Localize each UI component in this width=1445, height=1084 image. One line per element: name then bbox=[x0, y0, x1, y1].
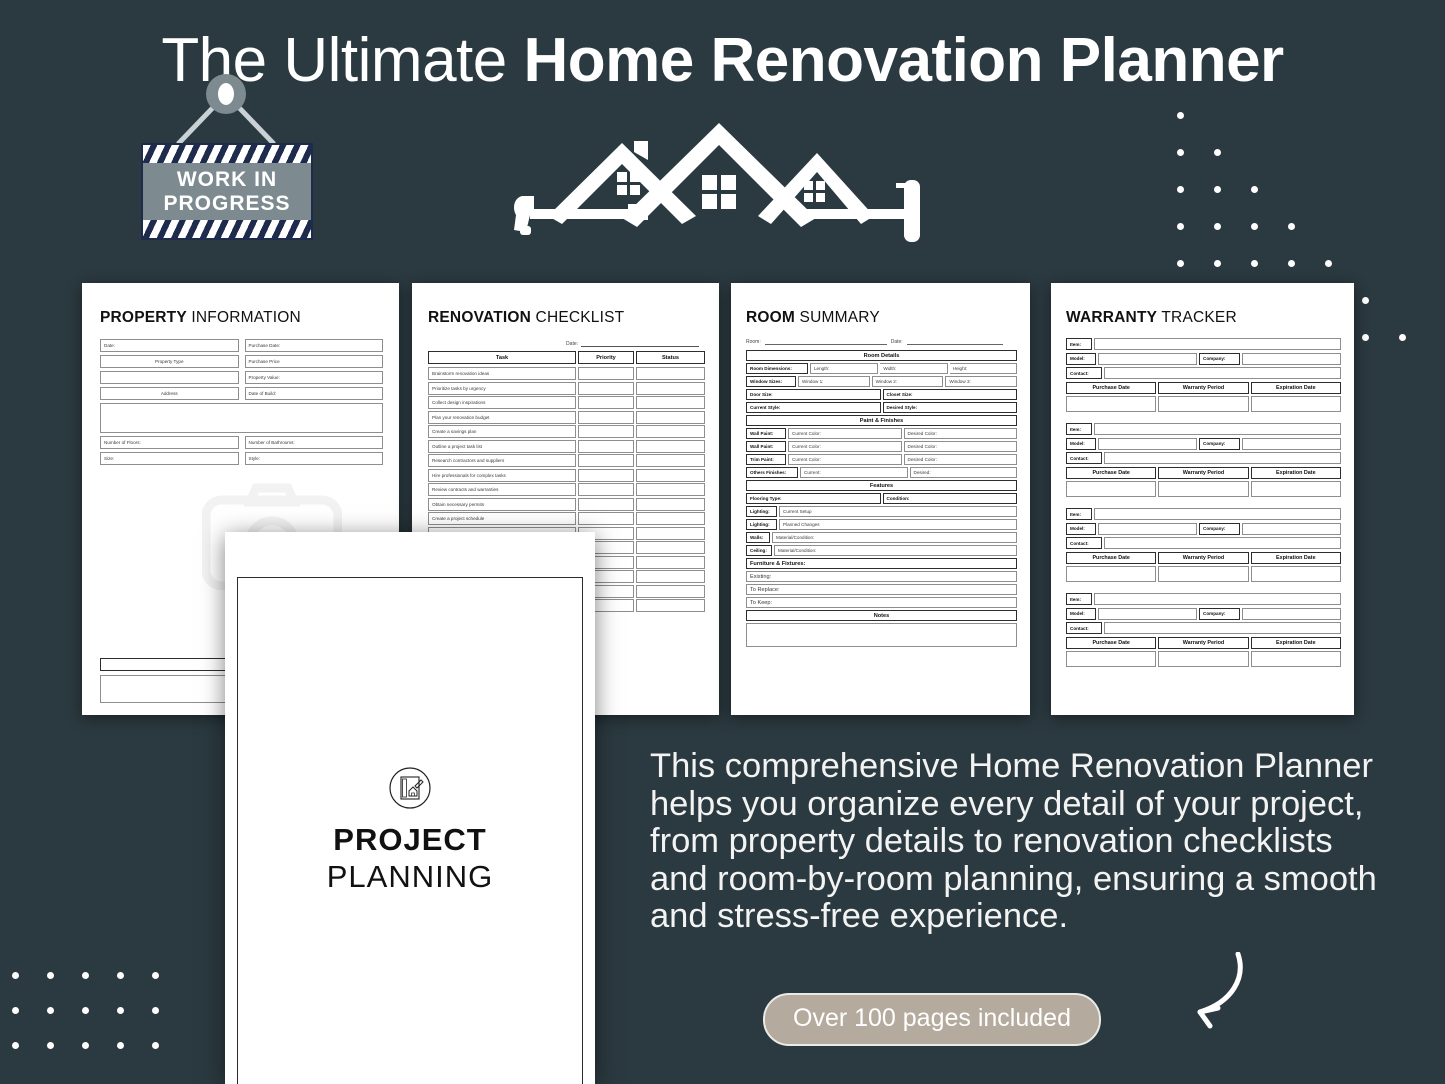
warranty-column-header: Expiration Date bbox=[1251, 467, 1341, 479]
decorative-dot bbox=[152, 1042, 159, 1049]
label-model: Model: bbox=[1066, 353, 1096, 365]
sheet-title-bold: WARRANTY bbox=[1066, 309, 1157, 326]
decorative-dot bbox=[1362, 297, 1369, 304]
warranty-contact-row: Contact: bbox=[1066, 622, 1341, 634]
warranty-column-header: Purchase Date bbox=[1066, 552, 1156, 564]
warranty-contact-row: Contact: bbox=[1066, 452, 1341, 464]
decorative-dot bbox=[1177, 186, 1184, 193]
decorative-dot bbox=[47, 1042, 54, 1049]
section-room-details: Room Details bbox=[746, 350, 1017, 361]
decorative-dot bbox=[1214, 223, 1221, 230]
priority-cell[interactable] bbox=[578, 498, 634, 511]
section-notes: Notes bbox=[746, 610, 1017, 621]
field-purchase-date[interactable]: Purchase Date: bbox=[245, 339, 384, 352]
field-height[interactable]: Height: bbox=[950, 363, 1017, 374]
priority-cell[interactable] bbox=[578, 483, 634, 496]
priority-cell[interactable] bbox=[578, 425, 634, 438]
field-model[interactable] bbox=[1098, 438, 1197, 450]
room-label: Room: bbox=[746, 339, 761, 345]
warranty-model-row: Model:Company: bbox=[1066, 523, 1341, 535]
warranty-cell[interactable] bbox=[1066, 651, 1156, 667]
warranty-block: Item:Model:Company:Contact:Purchase Date… bbox=[1066, 423, 1341, 497]
warranty-contact-row: Contact: bbox=[1066, 367, 1341, 379]
status-cell[interactable] bbox=[636, 527, 705, 540]
field-window-2[interactable]: Window 2: bbox=[872, 376, 944, 387]
status-cell[interactable] bbox=[636, 440, 705, 453]
field-contact[interactable] bbox=[1104, 622, 1341, 634]
section-features: Features bbox=[746, 480, 1017, 491]
warranty-column-header: Warranty Period bbox=[1158, 552, 1248, 564]
label-model: Model: bbox=[1066, 608, 1096, 620]
decorative-dot bbox=[47, 972, 54, 979]
label-contact: Contact: bbox=[1066, 622, 1102, 634]
field-property-value[interactable]: Property Value: bbox=[245, 371, 384, 384]
warranty-cell[interactable] bbox=[1158, 566, 1248, 582]
decorative-dot bbox=[117, 1007, 124, 1014]
page-title-bold: Home Renovation Planner bbox=[523, 26, 1283, 95]
field-window-1[interactable]: Window 1: bbox=[798, 376, 870, 387]
label-item: Item: bbox=[1066, 338, 1092, 350]
priority-cell[interactable] bbox=[578, 396, 634, 409]
warranty-table-body bbox=[1066, 396, 1341, 412]
decorative-dot bbox=[12, 1042, 19, 1049]
decorative-dot bbox=[1362, 334, 1369, 341]
decorative-dot bbox=[1251, 186, 1258, 193]
field-contact[interactable] bbox=[1104, 367, 1341, 379]
warranty-item-row: Item: bbox=[1066, 423, 1341, 435]
label-wall-paint-2: Wall Paint: bbox=[746, 441, 786, 452]
warranty-column-header: Purchase Date bbox=[1066, 382, 1156, 394]
field-door-size[interactable]: Door Size: bbox=[746, 389, 881, 400]
date-line: Date: bbox=[428, 339, 705, 347]
sign-line-2: PROGRESS bbox=[163, 192, 290, 216]
status-cell[interactable] bbox=[636, 411, 705, 424]
table-row: Create a savings plan bbox=[428, 425, 705, 438]
decorative-dot bbox=[1288, 260, 1295, 267]
table-row: Create a project schedule bbox=[428, 512, 705, 525]
field-current-style[interactable]: Current Style: bbox=[746, 402, 881, 413]
warranty-cell[interactable] bbox=[1066, 566, 1156, 582]
warranty-blocks: Item:Model:Company:Contact:Purchase Date… bbox=[1066, 338, 1341, 667]
warranty-table-header: Purchase DateWarranty PeriodExpiration D… bbox=[1066, 552, 1341, 564]
label-wall-paint-1: Wall Paint: bbox=[746, 428, 786, 439]
label-others-finishes: Others Finishes: bbox=[746, 467, 798, 478]
decorative-dot bbox=[117, 972, 124, 979]
decorative-dot bbox=[1214, 149, 1221, 156]
sheet-title: RENOVATION CHECKLIST bbox=[428, 309, 705, 327]
sheet-title-normal: SUMMARY bbox=[795, 309, 880, 326]
table-row: Collect design inspirations bbox=[428, 396, 705, 409]
warranty-block: Item:Model:Company:Contact:Purchase Date… bbox=[1066, 508, 1341, 582]
field-company[interactable] bbox=[1242, 523, 1341, 535]
warranty-table-body bbox=[1066, 481, 1341, 497]
warranty-column-header: Purchase Date bbox=[1066, 467, 1156, 479]
field-model[interactable] bbox=[1098, 353, 1197, 365]
label-model: Model: bbox=[1066, 523, 1096, 535]
field-company[interactable] bbox=[1242, 353, 1341, 365]
field-wall-paint-1-desired[interactable]: Desired Color: bbox=[904, 428, 1018, 439]
cover-title-bold: PROJECT bbox=[333, 822, 486, 858]
task-cell[interactable]: Hire professionals for complex tasks bbox=[428, 469, 576, 482]
column-task: Task bbox=[428, 351, 576, 364]
field-contact[interactable] bbox=[1104, 537, 1341, 549]
task-cell[interactable]: Brainstorm renovation ideas bbox=[428, 367, 576, 380]
date-label: Date: bbox=[891, 339, 903, 345]
page-room-summary: ROOM SUMMARY Room: Date: Room Details Ro… bbox=[731, 283, 1030, 715]
warranty-table-header: Purchase DateWarranty PeriodExpiration D… bbox=[1066, 467, 1341, 479]
date-rule[interactable] bbox=[907, 337, 1003, 345]
status-cell[interactable] bbox=[636, 396, 705, 409]
field-property-type[interactable]: Property Type bbox=[100, 355, 239, 368]
sign-board: WORK IN PROGRESS bbox=[141, 143, 313, 240]
decorative-dot bbox=[152, 972, 159, 979]
decorative-dot bbox=[1177, 260, 1184, 267]
field-style[interactable]: Style: bbox=[245, 452, 384, 465]
column-priority: Priority bbox=[578, 351, 634, 364]
task-cell[interactable]: Collect design inspirations bbox=[428, 396, 576, 409]
status-cell[interactable] bbox=[636, 570, 705, 583]
field-window-3[interactable]: Window 3: bbox=[945, 376, 1017, 387]
decorative-dot bbox=[117, 1042, 124, 1049]
sheet-title-normal: TRACKER bbox=[1157, 309, 1237, 326]
sheet-title: PROPERTY INFORMATION bbox=[100, 309, 383, 327]
label-company: Company: bbox=[1199, 353, 1240, 365]
decorative-dot bbox=[1214, 186, 1221, 193]
warranty-block: Item:Model:Company:Contact:Purchase Date… bbox=[1066, 593, 1341, 667]
date-rule[interactable] bbox=[581, 339, 699, 347]
field-item[interactable] bbox=[1094, 338, 1341, 350]
warranty-column-header: Expiration Date bbox=[1251, 382, 1341, 394]
table-row: Plan your renovation budget bbox=[428, 411, 705, 424]
field-closet-size[interactable]: Closet Size: bbox=[883, 389, 1018, 400]
sign-hanger-icon bbox=[133, 72, 319, 144]
task-cell[interactable]: Review contracts and warranties bbox=[428, 483, 576, 496]
field-lighting-current-setup[interactable]: Current Setup bbox=[779, 506, 1017, 517]
label-walls: Walls: bbox=[746, 532, 770, 543]
sign-stripe-bottom bbox=[143, 220, 311, 238]
decorative-dot bbox=[82, 1007, 89, 1014]
dot-pattern-bottom-left bbox=[12, 972, 187, 1062]
decorative-dot bbox=[12, 1007, 19, 1014]
field-lighting-planned-changes[interactable]: Planned Changes bbox=[779, 519, 1017, 530]
field-model[interactable] bbox=[1098, 523, 1197, 535]
field-contact[interactable] bbox=[1104, 452, 1341, 464]
page-warranty-tracker: WARRANTY TRACKER Item:Model:Company:Cont… bbox=[1051, 283, 1354, 715]
field-desired-style[interactable]: Desired Style: bbox=[883, 402, 1018, 413]
priority-cell[interactable] bbox=[578, 367, 634, 380]
field-company[interactable] bbox=[1242, 608, 1341, 620]
label-window-sizes: Window Sizes: bbox=[746, 376, 796, 387]
label-item: Item: bbox=[1066, 508, 1092, 520]
status-cell[interactable] bbox=[636, 512, 705, 525]
status-cell[interactable] bbox=[636, 556, 705, 569]
field-purchase-price[interactable]: Purchase Price bbox=[245, 355, 384, 368]
field-company[interactable] bbox=[1242, 438, 1341, 450]
table-row: Obtain necessary permits bbox=[428, 498, 705, 511]
field-address[interactable]: Address bbox=[100, 387, 239, 400]
field-wall-paint-1-current[interactable]: Current Color: bbox=[788, 428, 902, 439]
cover-title-normal: PLANNING bbox=[327, 859, 493, 895]
sheet-title-bold: ROOM bbox=[746, 309, 795, 326]
section-paint-finishes: Paint & Finishes bbox=[746, 415, 1017, 426]
task-cell[interactable]: Prioritize tasks by urgency bbox=[428, 382, 576, 395]
decorative-dot bbox=[47, 1007, 54, 1014]
warranty-model-row: Model:Company: bbox=[1066, 608, 1341, 620]
label-lighting-1: Lighting: bbox=[746, 506, 777, 517]
status-cell[interactable] bbox=[636, 469, 705, 482]
warranty-table-header: Purchase DateWarranty PeriodExpiration D… bbox=[1066, 637, 1341, 649]
priority-cell[interactable] bbox=[578, 454, 634, 467]
page-project-planning-cover: PROJECT PLANNING bbox=[225, 532, 595, 1084]
field-item[interactable] bbox=[1094, 593, 1341, 605]
curved-arrow-icon bbox=[1160, 952, 1252, 1036]
task-cell[interactable]: Plan your renovation budget bbox=[428, 411, 576, 424]
field-date[interactable]: Date: bbox=[100, 339, 239, 352]
decorative-dot bbox=[1288, 223, 1295, 230]
field-notes-area[interactable] bbox=[746, 623, 1017, 647]
priority-cell[interactable] bbox=[578, 411, 634, 424]
label-contact: Contact: bbox=[1066, 452, 1102, 464]
status-cell[interactable] bbox=[636, 483, 705, 496]
decorative-dot bbox=[12, 972, 19, 979]
label-room-dimensions: Room Dimensions: bbox=[746, 363, 808, 374]
warranty-cell[interactable] bbox=[1066, 481, 1156, 497]
pages-included-badge: Over 100 pages included bbox=[763, 993, 1101, 1046]
priority-cell[interactable] bbox=[578, 512, 634, 525]
table-row: Research contractors and suppliers bbox=[428, 454, 705, 467]
decorative-dot bbox=[1251, 223, 1258, 230]
warranty-table-body bbox=[1066, 651, 1341, 667]
label-item: Item: bbox=[1066, 593, 1092, 605]
decorative-dot bbox=[1177, 112, 1184, 119]
label-ceiling: Ceiling: bbox=[746, 545, 772, 556]
task-cell[interactable]: Obtain necessary permits bbox=[428, 498, 576, 511]
table-row: Hire professionals for complex tasks bbox=[428, 469, 705, 482]
warranty-item-row: Item: bbox=[1066, 338, 1341, 350]
status-cell[interactable] bbox=[636, 382, 705, 395]
label-model: Model: bbox=[1066, 438, 1096, 450]
decorative-dot bbox=[82, 1042, 89, 1049]
warranty-column-header: Expiration Date bbox=[1251, 637, 1341, 649]
field-existing[interactable]: Existing: bbox=[746, 571, 1017, 582]
warranty-cell[interactable] bbox=[1158, 396, 1248, 412]
warranty-cell[interactable] bbox=[1158, 481, 1248, 497]
field-blank[interactable] bbox=[100, 371, 239, 384]
warranty-cell[interactable] bbox=[1251, 481, 1341, 497]
field-trim-paint-current[interactable]: Current Color: bbox=[788, 454, 902, 465]
field-flooring-type[interactable]: Flooring Type: bbox=[746, 493, 881, 504]
field-width[interactable]: Width: bbox=[880, 363, 947, 374]
house-roofs-hammer-paint-roller-icon bbox=[500, 108, 950, 258]
warranty-column-header: Warranty Period bbox=[1158, 467, 1248, 479]
sheet-title-normal: INFORMATION bbox=[187, 309, 301, 326]
label-lighting-2: Lighting: bbox=[746, 519, 777, 530]
sheet-title-bold: PROPERTY bbox=[100, 309, 187, 326]
decorative-dot bbox=[1214, 260, 1221, 267]
status-cell[interactable] bbox=[636, 454, 705, 467]
label-item: Item: bbox=[1066, 423, 1092, 435]
label-company: Company: bbox=[1199, 608, 1240, 620]
work-in-progress-sign: WORK IN PROGRESS bbox=[133, 72, 319, 262]
table-row: Prioritize tasks by urgency bbox=[428, 382, 705, 395]
property-form: Date:Purchase Date: Property TypePurchas… bbox=[100, 339, 383, 465]
warranty-cell[interactable] bbox=[1251, 566, 1341, 582]
field-number-of-floors[interactable]: Number of Floors: bbox=[100, 436, 239, 449]
sheet-title: ROOM SUMMARY bbox=[746, 309, 1017, 327]
decorative-dot bbox=[1177, 149, 1184, 156]
label-company: Company: bbox=[1199, 523, 1240, 535]
description-text: This comprehensive Home Renovation Plann… bbox=[650, 748, 1380, 936]
room-date-line: Room: Date: bbox=[746, 337, 1017, 345]
decorative-dot bbox=[82, 972, 89, 979]
clipboard-house-plan-icon bbox=[388, 766, 432, 810]
status-cell[interactable] bbox=[636, 585, 705, 598]
warranty-cell[interactable] bbox=[1251, 651, 1341, 667]
task-cell[interactable]: Research contractors and suppliers bbox=[428, 454, 576, 467]
field-trim-paint-desired[interactable]: Desired Color: bbox=[904, 454, 1018, 465]
status-cell[interactable] bbox=[636, 425, 705, 438]
decorative-dot bbox=[152, 1007, 159, 1014]
warranty-table-header: Purchase DateWarranty PeriodExpiration D… bbox=[1066, 382, 1341, 394]
table-row: Outline a project task list bbox=[428, 440, 705, 453]
field-size[interactable]: Size: bbox=[100, 452, 239, 465]
field-others-desired[interactable]: Desired: bbox=[910, 467, 1018, 478]
warranty-block: Item:Model:Company:Contact:Purchase Date… bbox=[1066, 338, 1341, 412]
status-cell[interactable] bbox=[636, 541, 705, 554]
room-summary-form: Room Details Room Dimensions: Length: Wi… bbox=[746, 350, 1017, 647]
warranty-cell[interactable] bbox=[1158, 651, 1248, 667]
warranty-item-row: Item: bbox=[1066, 508, 1341, 520]
poster-canvas: The Ultimate Home Renovation Planner WOR… bbox=[0, 0, 1445, 1084]
status-cell[interactable] bbox=[636, 498, 705, 511]
field-model[interactable] bbox=[1098, 608, 1197, 620]
sign-text: WORK IN PROGRESS bbox=[143, 163, 311, 220]
label-company: Company: bbox=[1199, 438, 1240, 450]
field-item[interactable] bbox=[1094, 508, 1341, 520]
priority-cell[interactable] bbox=[578, 382, 634, 395]
warranty-contact-row: Contact: bbox=[1066, 537, 1341, 549]
warranty-table-body bbox=[1066, 566, 1341, 582]
task-cell[interactable]: Create a savings plan bbox=[428, 425, 576, 438]
warranty-model-row: Model:Company: bbox=[1066, 353, 1341, 365]
field-item[interactable] bbox=[1094, 423, 1341, 435]
sign-stripe-top bbox=[143, 145, 311, 163]
warranty-column-header: Purchase Date bbox=[1066, 637, 1156, 649]
warranty-column-header: Warranty Period bbox=[1158, 382, 1248, 394]
column-status: Status bbox=[636, 351, 705, 364]
table-header-row: Task Priority Status bbox=[428, 351, 705, 364]
warranty-column-header: Expiration Date bbox=[1251, 552, 1341, 564]
date-label: Date: bbox=[566, 341, 578, 347]
decorative-dot bbox=[1325, 260, 1332, 267]
label-trim-paint: Trim Paint: bbox=[746, 454, 786, 465]
field-length[interactable]: Length: bbox=[810, 363, 878, 374]
field-number-of-bathrooms[interactable]: Number of Bathrooms: bbox=[245, 436, 384, 449]
decorative-dot bbox=[1399, 334, 1406, 341]
field-date-of-build[interactable]: Date of Build: bbox=[245, 387, 384, 400]
field-address-area[interactable] bbox=[100, 403, 383, 433]
field-wall-paint-2-desired[interactable]: Desired Color: bbox=[904, 441, 1018, 452]
warranty-model-row: Model:Company: bbox=[1066, 438, 1341, 450]
room-rule[interactable] bbox=[765, 337, 887, 345]
decorative-dot bbox=[1177, 223, 1184, 230]
sheet-title: WARRANTY TRACKER bbox=[1066, 309, 1341, 327]
field-walls-material[interactable]: Material/Condition: bbox=[772, 532, 1017, 543]
field-to-replace[interactable]: To Replace: bbox=[746, 584, 1017, 595]
status-cell[interactable] bbox=[636, 367, 705, 380]
cover-frame: PROJECT PLANNING bbox=[237, 577, 583, 1084]
field-wall-paint-2-current[interactable]: Current Color: bbox=[788, 441, 902, 452]
field-condition[interactable]: Condition: bbox=[883, 493, 1018, 504]
status-cell[interactable] bbox=[636, 599, 705, 612]
field-to-keep[interactable]: To Keep: bbox=[746, 597, 1017, 608]
table-row: Review contracts and warranties bbox=[428, 483, 705, 496]
label-contact: Contact: bbox=[1066, 367, 1102, 379]
warranty-column-header: Warranty Period bbox=[1158, 637, 1248, 649]
priority-cell[interactable] bbox=[578, 469, 634, 482]
warranty-cell[interactable] bbox=[1066, 396, 1156, 412]
table-row: Brainstorm renovation ideas bbox=[428, 367, 705, 380]
field-ceiling-material[interactable]: Material/Condition: bbox=[774, 545, 1017, 556]
sign-line-1: WORK IN bbox=[177, 168, 277, 192]
sheet-title-bold: RENOVATION bbox=[428, 309, 531, 326]
decorative-dot bbox=[1251, 260, 1258, 267]
sheet-title-normal: CHECKLIST bbox=[531, 309, 624, 326]
field-others-current[interactable]: Current: bbox=[800, 467, 908, 478]
label-contact: Contact: bbox=[1066, 537, 1102, 549]
task-cell[interactable]: Outline a project task list bbox=[428, 440, 576, 453]
warranty-item-row: Item: bbox=[1066, 593, 1341, 605]
task-cell[interactable]: Create a project schedule bbox=[428, 512, 576, 525]
section-furniture-fixtures: Furniture & Fixtures: bbox=[746, 558, 1017, 569]
priority-cell[interactable] bbox=[578, 440, 634, 453]
warranty-cell[interactable] bbox=[1251, 396, 1341, 412]
